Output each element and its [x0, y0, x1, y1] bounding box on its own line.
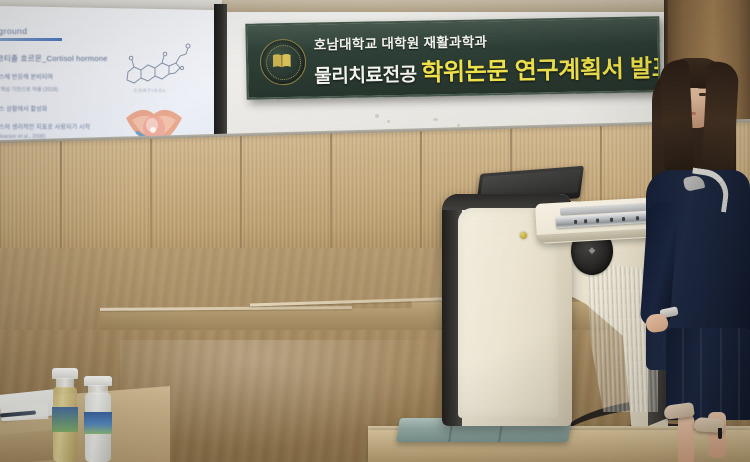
- slide-bullet: 스트레스 상황에서 활성화: [0, 104, 47, 113]
- speaker-center-mark: ◆: [583, 245, 601, 255]
- slide-title-rule: [0, 38, 62, 41]
- lectern-brand-logo: [520, 232, 527, 239]
- front-table-edge: [0, 429, 60, 462]
- slide-bullet: 스트레스의 생리적인 지표로 사용되기 시작: [0, 122, 90, 131]
- control-button[interactable]: [622, 217, 625, 221]
- banner-title-label: 학위논문 연구계획서 발표: [421, 55, 661, 87]
- control-button[interactable]: [610, 217, 613, 221]
- control-button[interactable]: [596, 218, 599, 222]
- slide-bullet: 스트레스에 반응해 분비되며: [0, 72, 53, 81]
- event-banner: 호남대학교 대학원 재활과학과 물리치료전공 학위논문 연구계획서 발표: [245, 16, 660, 100]
- skirt-pleat: [720, 328, 722, 420]
- control-button[interactable]: [584, 219, 587, 223]
- panel-seam: [420, 131, 422, 259]
- skirt-pleat: [738, 328, 740, 420]
- whiteboard-mark: [387, 120, 390, 123]
- water-bottle-clear: [84, 376, 112, 462]
- whiteboard-mark: [433, 118, 438, 121]
- crest-book-icon: [272, 53, 292, 68]
- banner-line-1: 호남대학교 대학원 재활과학과: [314, 30, 488, 53]
- skirt-pleat: [700, 328, 702, 420]
- molecule-caption: CORTISOL: [134, 88, 167, 93]
- presentation-photo-scene: Background 타액 코티졸 호르몬_Cortisol hormone 스…: [0, 0, 750, 462]
- whiteboard-mark: [375, 114, 379, 118]
- presenter-leg: [678, 414, 694, 462]
- presenter-hair-left: [659, 59, 695, 178]
- banner-major-label: 물리치료전공: [314, 65, 417, 88]
- presenter: [640, 52, 750, 462]
- water-bottle-tea: [52, 368, 78, 462]
- bottle-label: [52, 407, 78, 431]
- slide-bullet-ref: 생리학적 핵심 기전으로 작용 (2018): [0, 86, 58, 93]
- control-button[interactable]: [636, 216, 639, 220]
- cortisol-molecule-diagram: [122, 38, 192, 86]
- university-crest-icon: [260, 39, 307, 86]
- control-button[interactable]: [574, 219, 577, 223]
- panel-seam: [330, 134, 332, 262]
- banner-line-2: 물리치료전공 학위논문 연구계획서 발표: [314, 48, 661, 90]
- panel-seam: [240, 136, 242, 264]
- slide-subtitle: 타액 코티졸 호르몬_Cortisol hormone: [0, 53, 108, 64]
- bottle-label: [84, 412, 112, 434]
- shoe-heel: [718, 428, 722, 439]
- slide-title: Background: [0, 26, 27, 36]
